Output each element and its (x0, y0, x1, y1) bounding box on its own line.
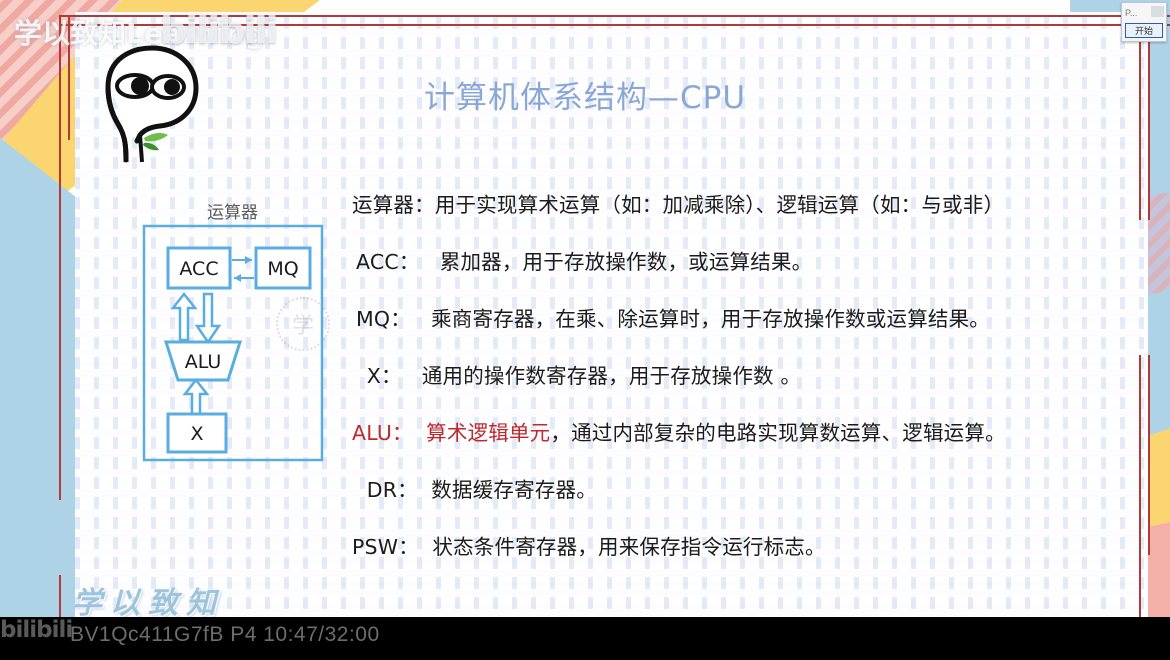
text-line-psw: PSW： 状态条件寄存器，用来保存指令运行标志。 (352, 530, 1112, 560)
presentation-slide: 计算机体系结构—CPU 运算器 ACC (0, 0, 1170, 617)
powerpoint-titlebar[interactable]: P... (1122, 3, 1166, 22)
text-line-psw-label: PSW： (352, 530, 419, 560)
powerpoint-mini-window[interactable]: P... 开始 (1121, 2, 1167, 42)
text-line-acc-body: 累加器，用于存放操作数，或运算结果。 (440, 250, 813, 274)
text-line-dr-label: DR： (367, 473, 418, 503)
text-line-mq-label: MQ： (356, 302, 411, 332)
meme-face-illustration (88, 42, 218, 172)
text-line-x-body: 通用的操作数寄存器，用于存放操作数 。 (422, 364, 801, 388)
text-line-x: X： 通用的操作数寄存器，用于存放操作数 。 (352, 359, 1112, 389)
svg-text:MQ: MQ (267, 258, 298, 280)
text-line-mq-body: 乘商寄存器，在乘、除运算时，用于存放操作数或运算结果。 (431, 307, 990, 331)
window-control-button[interactable] (1151, 6, 1164, 17)
frame-line-top-inner (59, 24, 1170, 26)
text-line-arith: 运算器：用于实现算术运算（如：加减乘除）、逻辑运算（如：与或非） (352, 188, 1112, 218)
text-line-psw-body: 状态条件寄存器，用来保存指令运行标志。 (432, 535, 825, 559)
text-line-alu-body: ，通过内部复杂的电路实现算数运算、逻辑运算。 (550, 421, 1005, 445)
powerpoint-title: P... (1122, 8, 1137, 18)
frame-line-right (1139, 15, 1141, 220)
text-line-mq: MQ： 乘商寄存器，在乘、除运算时，用于存放操作数或运算结果。 (352, 302, 1112, 332)
frame-line-right-lower-inner (1148, 355, 1150, 555)
frame-line-right-lower (1139, 355, 1141, 617)
frame-line-right-inner (1148, 15, 1150, 220)
text-line-acc-label: ACC： (356, 245, 420, 275)
text-line-alu: ALU： 算术逻辑单元，通过内部复杂的电路实现算数运算、逻辑运算。 (352, 416, 1112, 446)
text-line-acc: ACC： 累加器，用于存放操作数，或运算结果。 (352, 245, 1112, 275)
text-line-dr: DR： 数据缓存寄存器。 (352, 473, 1112, 503)
text-line-x-label: X： (367, 359, 402, 389)
text-line-arith-label: 运算器： (352, 188, 435, 218)
text-line-alu-label: ALU： (352, 416, 413, 446)
player-status-bar: BV1Qc411G7fB P4 10:47/32:00 (0, 617, 1170, 660)
svg-text:X: X (190, 423, 203, 445)
frame-line-top (59, 15, 1170, 17)
svg-text:ACC: ACC (179, 258, 218, 280)
slide-body-text: 运算器：用于实现算术运算（如：加减乘除）、逻辑运算（如：与或非） ACC： 累加… (352, 188, 1112, 587)
frame-line-bottom-left (59, 575, 61, 617)
diagram-caption: 运算器 (140, 198, 325, 223)
tab-home[interactable]: 开始 (1125, 23, 1163, 38)
text-line-dr-body: 数据缓存寄存器。 (431, 478, 597, 502)
video-player-frame: 计算机体系结构—CPU 运算器 ACC (0, 0, 1170, 660)
video-id-and-time: BV1Qc411G7fB P4 10:47/32:00 (70, 623, 380, 647)
svg-text:ALU: ALU (185, 351, 222, 373)
bilibili-logo: bilibili (0, 617, 76, 645)
text-line-alu-highlight: 算术逻辑单元 (426, 421, 550, 445)
arithmetic-unit-diagram: ACC MQ ALU X (140, 196, 330, 471)
text-line-arith-body: 用于实现算术运算（如：加减乘除）、逻辑运算（如：与或非） (435, 193, 1004, 217)
